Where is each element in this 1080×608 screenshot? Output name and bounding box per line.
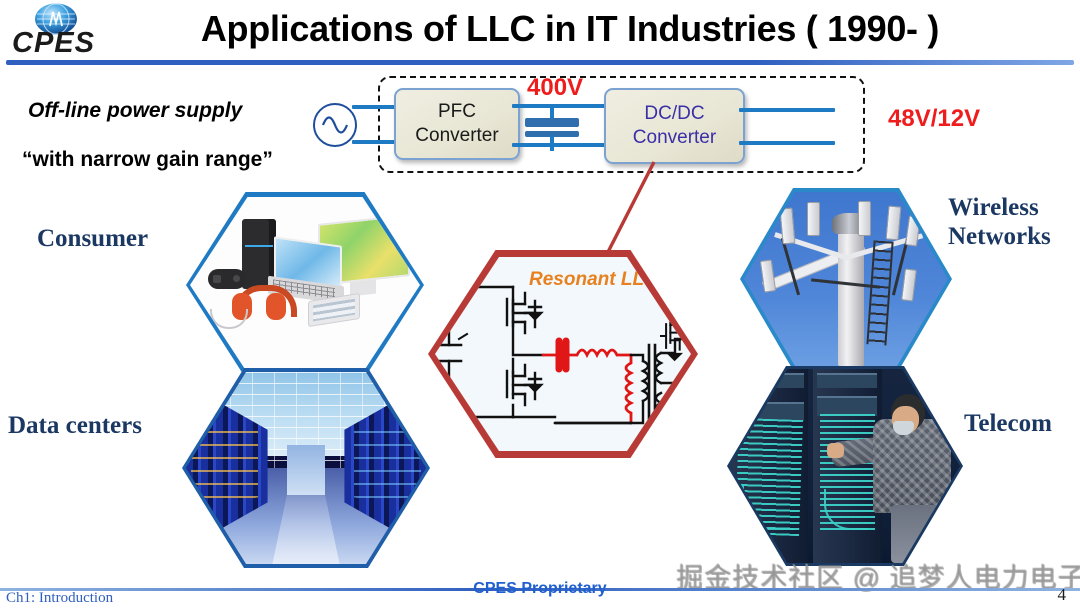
page-title: Applications of LLC in IT Industries ( 1… bbox=[150, 8, 990, 50]
narrow-gain-range-label: “with narrow gain range” bbox=[22, 148, 273, 172]
wire-dclink-top bbox=[512, 104, 608, 108]
slide-header: CPES Applications of LLC in IT Industrie… bbox=[0, 0, 1080, 63]
cable-bend-left bbox=[742, 485, 795, 530]
rack-leds-left bbox=[191, 418, 258, 510]
wire-dclink-bottom bbox=[512, 143, 608, 147]
rack-leds-right bbox=[354, 418, 421, 510]
headphone-right-cup bbox=[266, 293, 286, 320]
hexagon-resonant-llc[interactable]: Resonant LLC bbox=[428, 250, 698, 458]
pfc-converter-block: PFC Converter bbox=[394, 88, 520, 160]
headphone-cord bbox=[210, 309, 248, 329]
resonant-llc-caption: Resonant LLC bbox=[529, 269, 658, 291]
label-wireless-line2: Networks bbox=[948, 222, 1051, 251]
consumer-image bbox=[190, 197, 420, 373]
wire-ac-bottom bbox=[352, 140, 398, 144]
pfc-label-line1: PFC bbox=[438, 100, 476, 124]
cpes-logo: CPES bbox=[8, 2, 118, 60]
cpes-logo-text: CPES bbox=[12, 28, 116, 58]
label-consumer: Consumer bbox=[37, 224, 148, 253]
cell-tower-image bbox=[744, 192, 948, 366]
llc-connector-line bbox=[600, 160, 690, 256]
wire-ac-top bbox=[352, 105, 398, 109]
hexagon-data-centers[interactable] bbox=[182, 368, 430, 568]
technician-legs bbox=[891, 505, 942, 563]
antenna-2 bbox=[807, 202, 820, 236]
gamepad-icon bbox=[208, 269, 246, 289]
tower-mast bbox=[838, 223, 865, 366]
label-telecom: Telecom bbox=[964, 409, 1052, 438]
bus-voltage-label: 400V bbox=[527, 74, 583, 102]
antenna-4 bbox=[885, 205, 901, 240]
pfc-label-line2: Converter bbox=[415, 124, 498, 148]
data-center-scene bbox=[186, 372, 426, 564]
hexagon-consumer[interactable] bbox=[186, 192, 424, 378]
title-underline bbox=[6, 60, 1074, 65]
label-wireless-line1: Wireless bbox=[948, 193, 1051, 222]
llc-schematic-area: Resonant LLC bbox=[435, 257, 691, 451]
telecom-image bbox=[730, 369, 960, 563]
dcdc-converter-block: DC/DC Converter bbox=[604, 88, 745, 164]
footer-proprietary-label: CPES Proprietary bbox=[0, 580, 1080, 598]
data-center-image bbox=[186, 372, 426, 564]
label-data-centers: Data centers bbox=[8, 411, 142, 440]
ac-source-icon bbox=[313, 103, 357, 147]
dcdc-label-line1: DC/DC bbox=[644, 102, 704, 126]
capacitor-icon bbox=[525, 110, 579, 140]
panel-top-center bbox=[817, 373, 877, 389]
label-wireless-networks: Wireless Networks bbox=[948, 193, 1051, 251]
slide-root: CPES Applications of LLC in IT Industrie… bbox=[0, 0, 1080, 608]
antenna-3 bbox=[858, 201, 871, 236]
wire-out-top bbox=[739, 108, 835, 112]
footer-page-number: 4 bbox=[1058, 585, 1067, 605]
technician-torso bbox=[873, 419, 951, 512]
output-voltage-label: 48V/12V bbox=[888, 105, 980, 133]
aisle-end-wall bbox=[287, 445, 325, 495]
hexagon-wireless-networks[interactable] bbox=[740, 188, 952, 370]
telecom-scene bbox=[730, 369, 960, 563]
technician-hand bbox=[827, 443, 844, 458]
antenna-1 bbox=[779, 207, 795, 244]
wire-out-bottom bbox=[739, 141, 835, 145]
hexagon-telecom[interactable] bbox=[727, 366, 963, 566]
offline-power-supply-label: Off-line power supply bbox=[28, 99, 242, 123]
panel-top-left bbox=[735, 373, 804, 389]
dcdc-label-line2: Converter bbox=[633, 126, 716, 150]
